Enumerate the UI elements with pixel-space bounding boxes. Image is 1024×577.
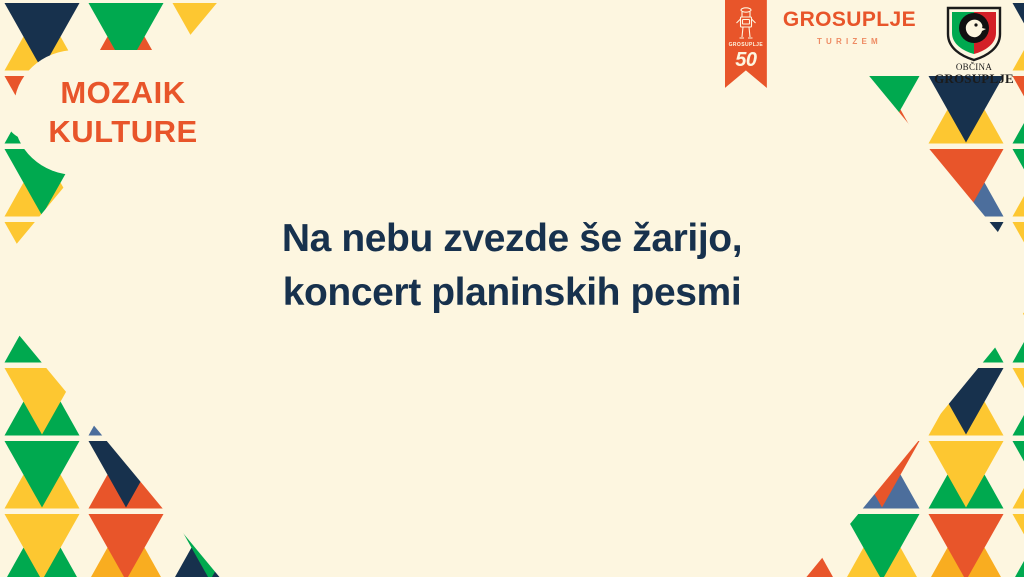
obcina-line-2: GROSUPLJE	[932, 71, 1016, 87]
grosuplje-turizem-logo[interactable]: GROSUPLJE TURIZEM	[783, 0, 916, 46]
event-title: Na nebu zvezde še žarijo, koncert planin…	[232, 212, 792, 320]
turizem-subtitle: TURIZEM	[783, 37, 916, 46]
ribbon-number: 50	[725, 49, 767, 72]
coat-of-arms-icon	[944, 4, 1004, 62]
grosuplje-50-ribbon-logo[interactable]: GROSUPLJE 50	[725, 0, 767, 88]
logo-strip: GROSUPLJE 50 GROSUPLJE TURIZEM OBČINA GR…	[725, 0, 1016, 92]
poster-canvas: MOZAIK KULTURE Na nebu zvezde še žarijo,…	[0, 0, 1024, 577]
badge-text-group: MOZAIK KULTURE	[14, 50, 232, 175]
turizem-wordmark: GROSUPLJE	[783, 8, 916, 32]
ribbon-label: GROSUPLJE	[725, 42, 767, 48]
event-title-line-1: Na nebu zvezde še žarijo,	[232, 212, 792, 266]
badge-line-1: MOZAIK	[60, 75, 185, 112]
badge-line-2: KULTURE	[48, 114, 197, 151]
mozaik-kulture-badge[interactable]: MOZAIK KULTURE	[14, 50, 232, 175]
obcina-grosuplje-logo[interactable]: OBČINA GROSUPLJE	[932, 0, 1016, 87]
ribbon-figure-icon	[725, 6, 767, 42]
event-title-line-2: koncert planinskih pesmi	[232, 266, 792, 320]
mosaic-triangle	[257, 4, 332, 71]
